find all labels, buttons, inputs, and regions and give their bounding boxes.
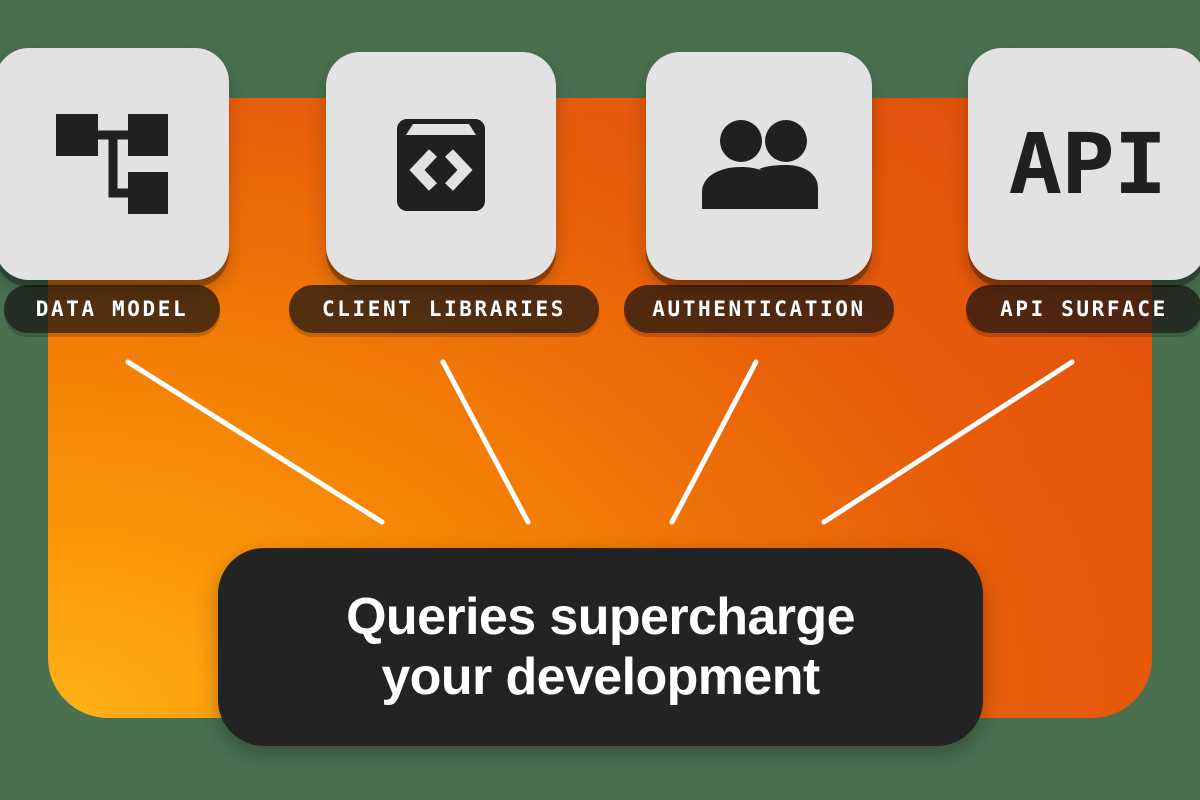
feature-card-data-model[interactable] xyxy=(0,48,229,280)
feature-card-authentication[interactable] xyxy=(646,52,872,280)
feature-label-pill-data-model: DATA MODEL xyxy=(4,285,220,333)
api-text-icon: API xyxy=(1008,122,1166,206)
feature-label-authentication: AUTHENTICATION xyxy=(652,297,865,321)
hierarchy-nodes-icon xyxy=(54,108,170,220)
users-group-icon xyxy=(697,119,821,213)
feature-label-pill-api-surface: API SURFACE xyxy=(966,285,1200,333)
headline-text: Queries supercharge your development xyxy=(318,587,883,708)
code-box-icon xyxy=(389,115,493,217)
feature-label-client-libraries: CLIENT LIBRARIES xyxy=(322,297,566,321)
feature-label-api-surface: API SURFACE xyxy=(1000,297,1168,321)
headline-line-2: your development xyxy=(346,647,855,707)
feature-label-data-model: DATA MODEL xyxy=(36,297,188,321)
headline-line-1: Queries supercharge xyxy=(346,587,855,647)
feature-label-pill-authentication: AUTHENTICATION xyxy=(624,285,894,333)
diagram-canvas: DATA MODEL CLIENT LIBRARIES AUTHENTICATI xyxy=(0,0,1200,800)
headline-card: Queries supercharge your development xyxy=(218,548,983,746)
feature-label-pill-client-libraries: CLIENT LIBRARIES xyxy=(289,285,599,333)
feature-card-api-surface[interactable]: API xyxy=(968,48,1200,280)
feature-card-client-libraries[interactable] xyxy=(326,52,556,280)
